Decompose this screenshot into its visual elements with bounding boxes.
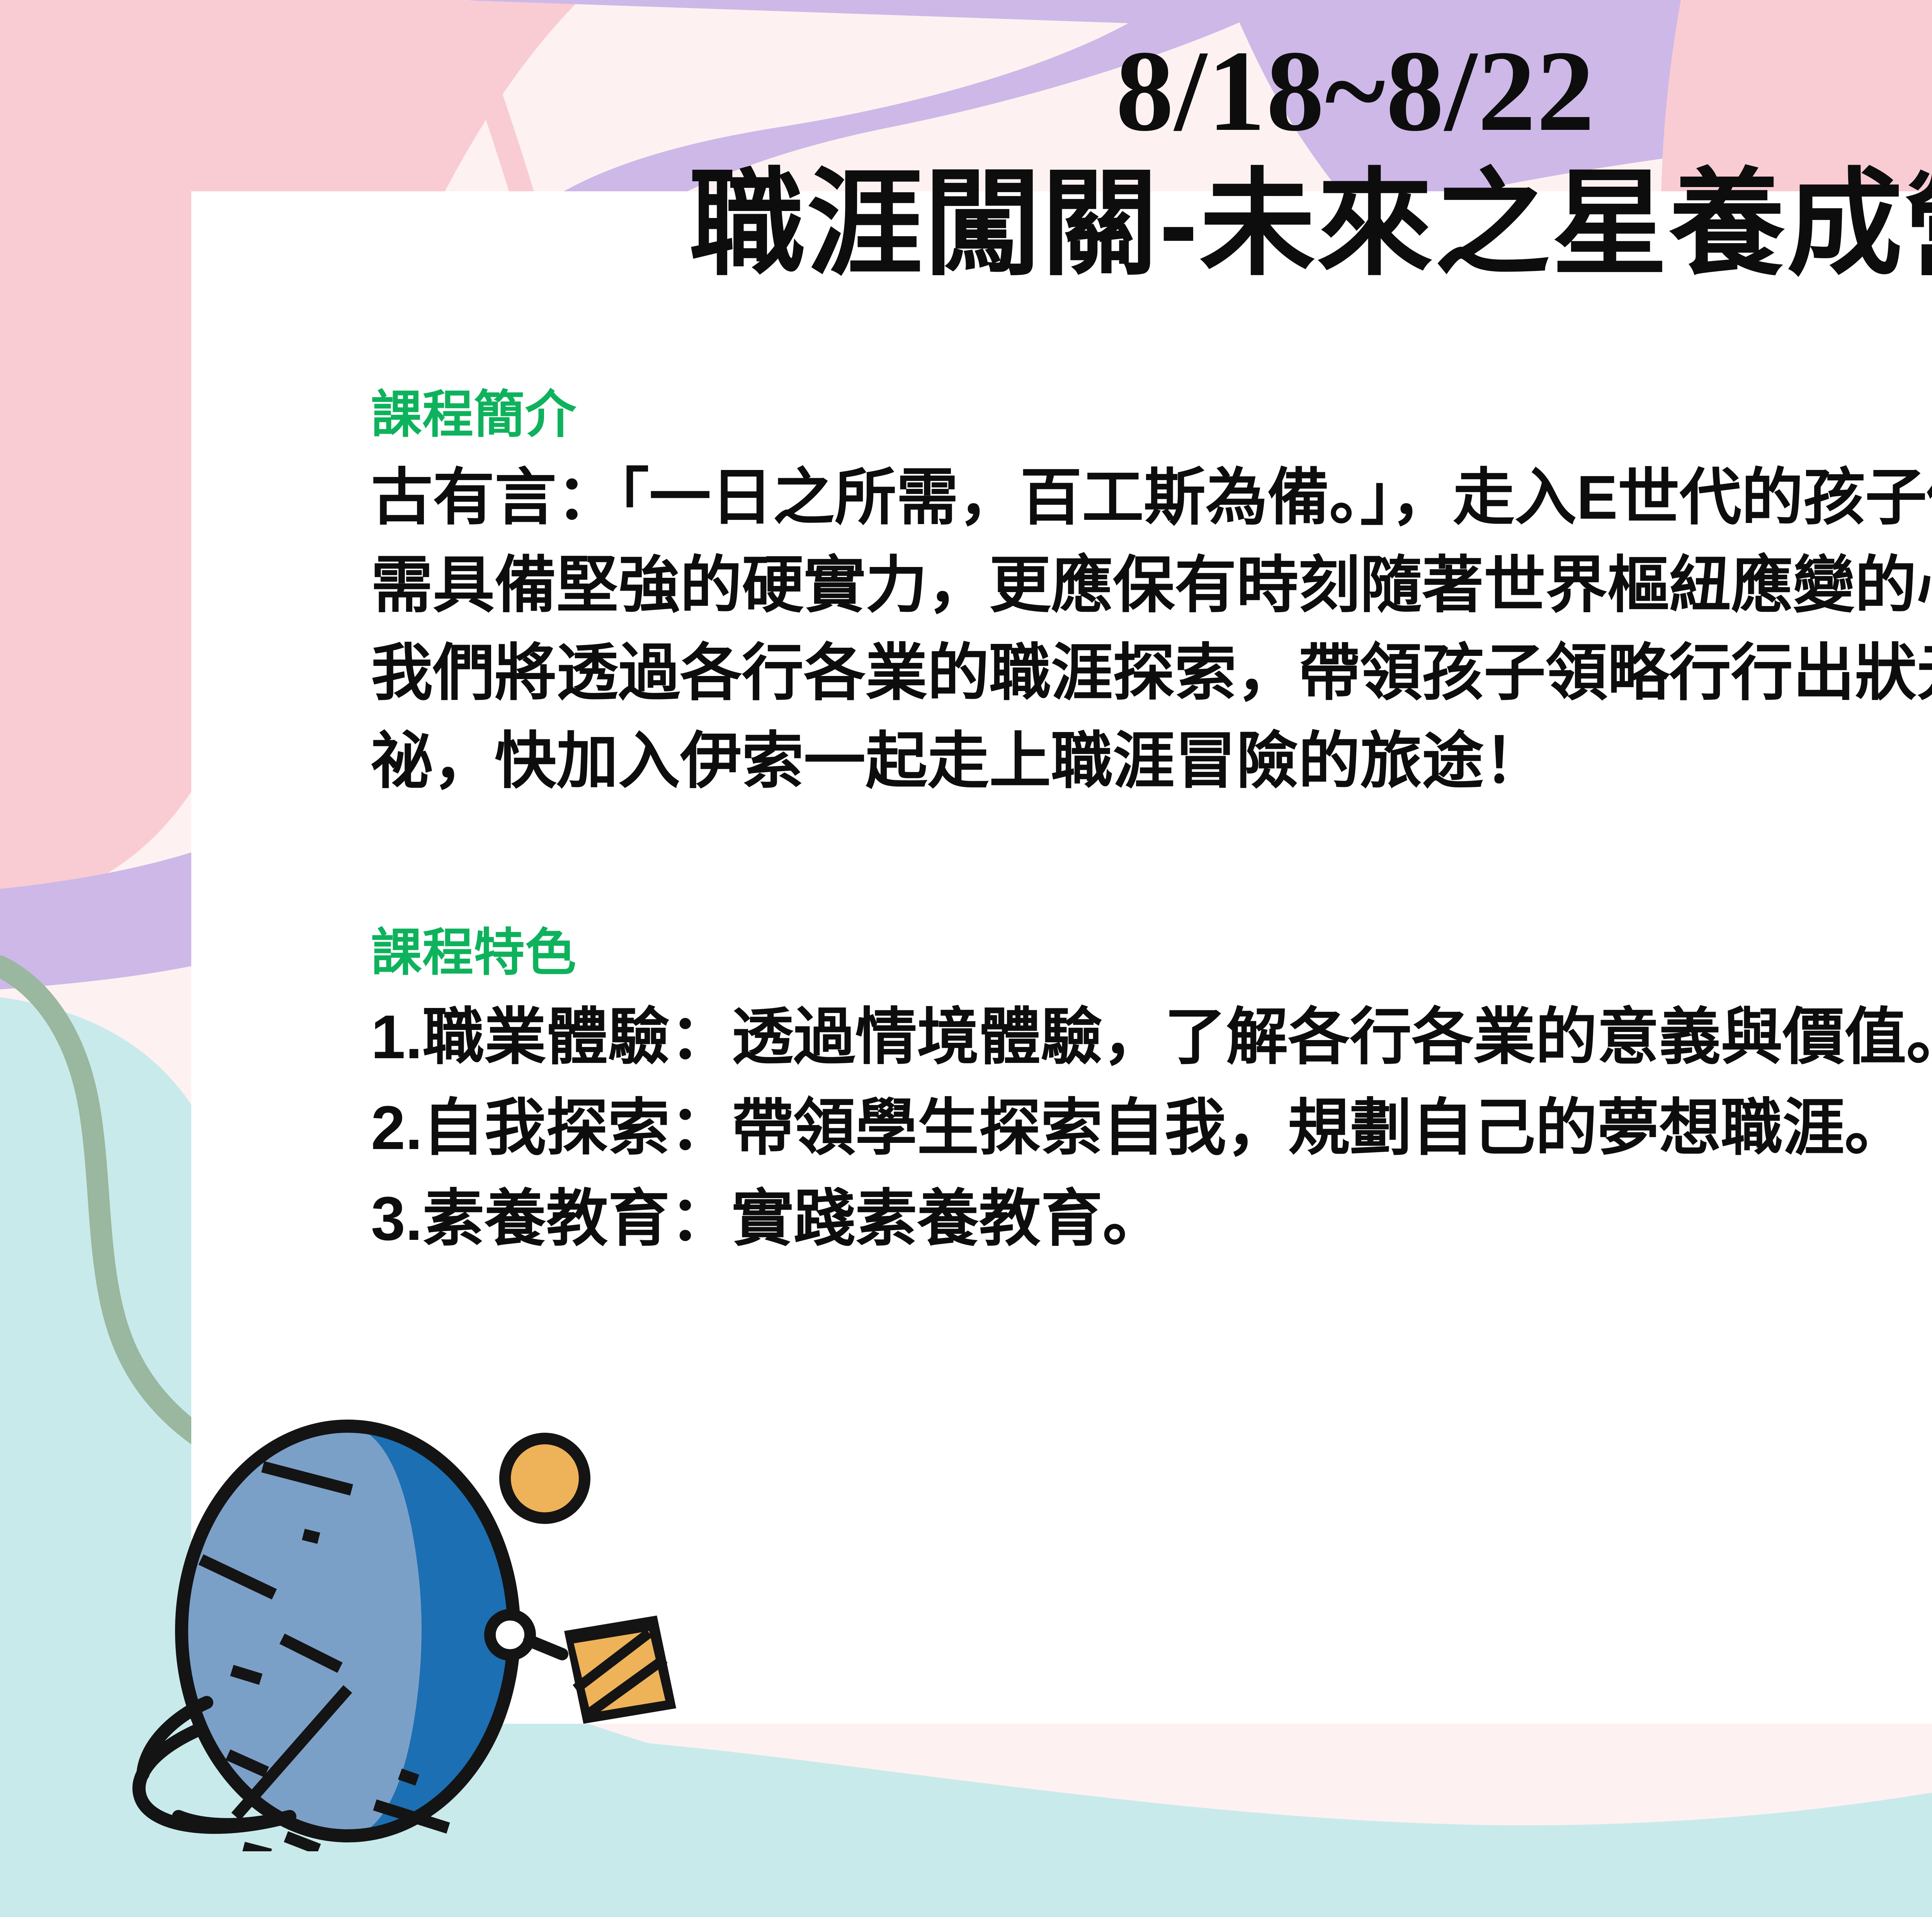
intro-line-3: 我們將透過各行各業的職涯探索，帶領孩子領略行行出狀元的奧 — [371, 629, 1932, 717]
poster-canvas: 8/18~8/22 職涯闖關-未來之星養成營 課程簡介 古有言：「一日之所需，百… — [0, 0, 1932, 1917]
intro-line-1: 古有言：「一日之所需，百工斯為備。」，走入E世代的孩子們不僅 — [371, 453, 1932, 541]
body-text-area: 課程簡介 古有言：「一日之所需，百工斯為備。」，走入E世代的孩子們不僅 需具備堅… — [371, 383, 1932, 1264]
intro-line-2: 需具備堅強的硬實力，更應保有時刻隨著世界樞紐應變的心態， — [371, 541, 1932, 629]
features-heading: 課程特色 — [371, 921, 1932, 984]
feature-item-1: 1.職業體驗：透過情境體驗，了解各行各業的意義與價值。 — [371, 991, 1932, 1082]
intro-line-4: 祕，快加入伊索一起走上職涯冒險的旅途！ — [371, 717, 1932, 805]
satellite-planet-icon — [108, 1384, 842, 1851]
intro-heading: 課程簡介 — [371, 383, 1932, 446]
feature-item-3: 3.素養教育：實踐素養教育。 — [371, 1173, 1932, 1264]
orange-sun-dot-icon — [499, 1433, 590, 1524]
feature-item-2: 2.自我探索：帶領學生探索自我，規劃自己的夢想職涯。 — [371, 1082, 1932, 1173]
